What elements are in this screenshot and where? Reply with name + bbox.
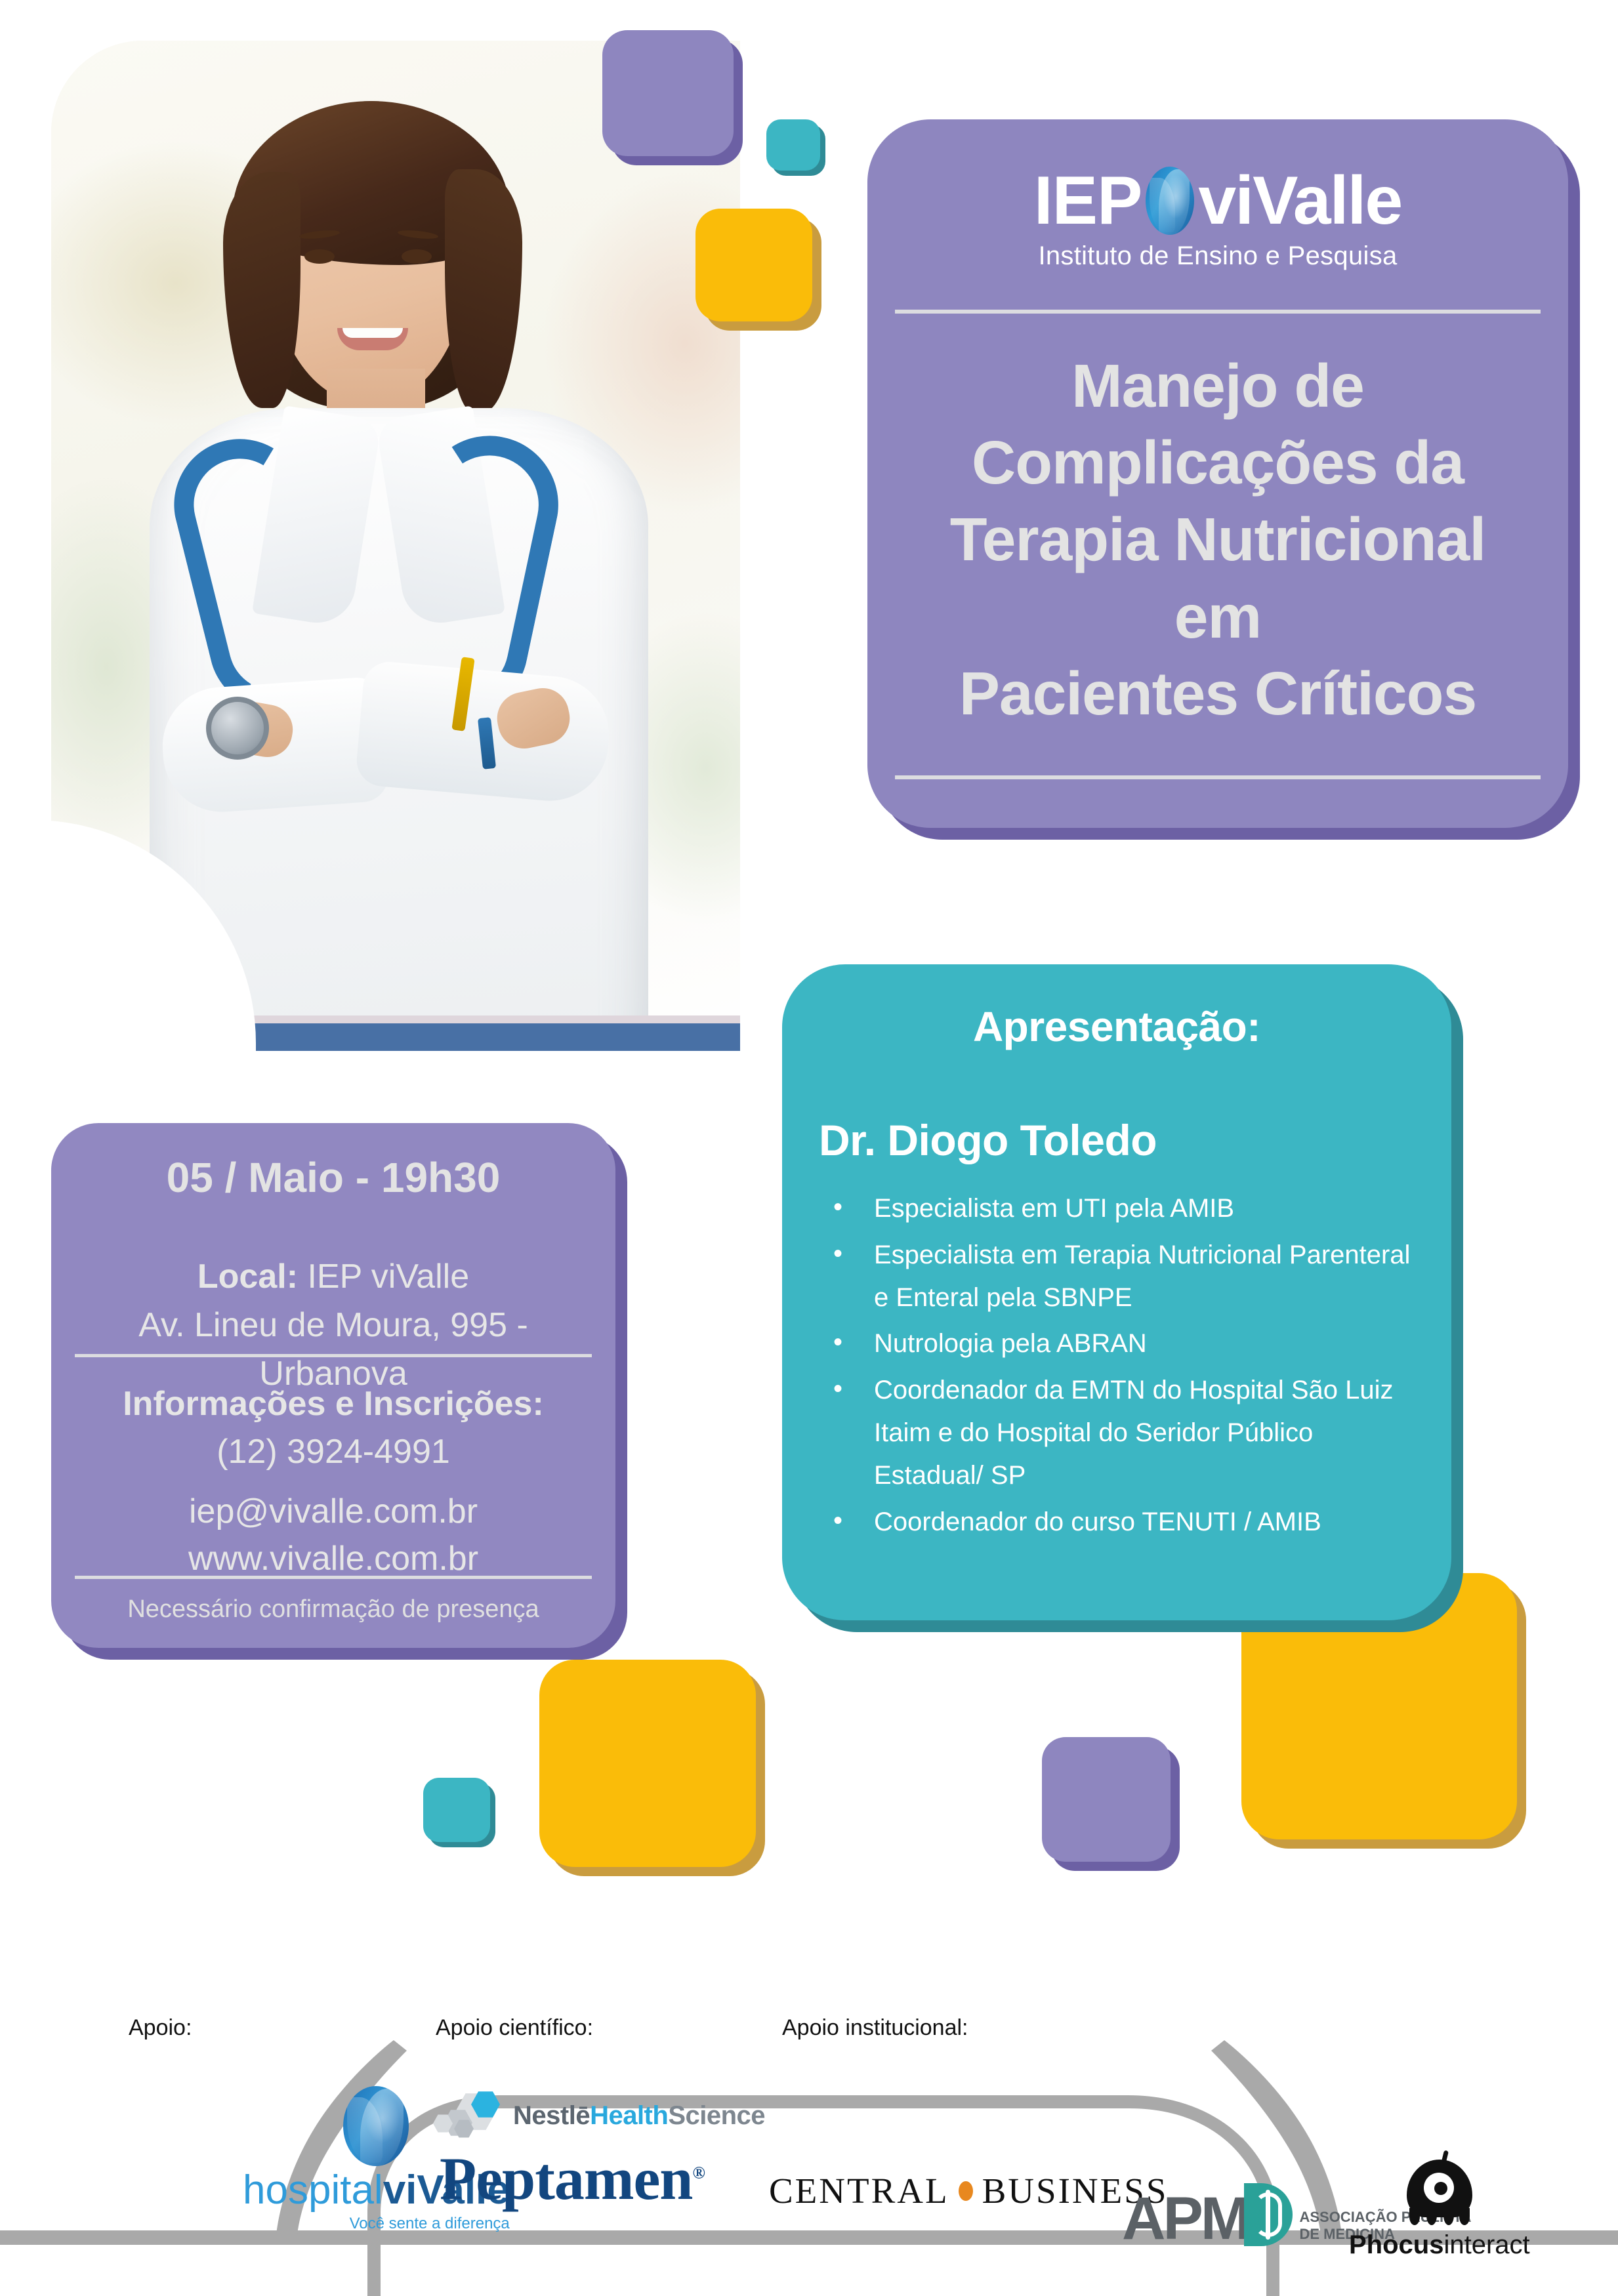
sponsor-group-institucional: Apoio institucional: (782, 2015, 968, 2041)
presenter-heading: Apresentação: (782, 1002, 1451, 1051)
cb-word-1: CENTRAL (769, 2170, 949, 2211)
credential-text: Coordenador do curso TENUTI / AMIB (874, 1507, 1321, 1536)
peptamen-registered-mark: ® (692, 2163, 704, 2182)
list-item: Especialista em UTI pela AMIB (819, 1187, 1429, 1230)
credential-text-cont: e Enteral pela SBNPE (874, 1277, 1429, 1319)
hv-word-a: hospital (243, 2167, 383, 2213)
nestle-part2: Health (590, 2101, 668, 2130)
iep-vivalle-logo: IEP viValle Instituto de Ensino e Pesqui… (867, 167, 1568, 271)
info-divider-bottom (75, 1576, 592, 1579)
title-line-3: Terapia Nutricional em (904, 501, 1531, 655)
central-business-logo: CENTRAL BUSINESS (769, 2170, 1168, 2211)
nestle-part1: Nestlē (513, 2101, 590, 2130)
credential-text: Coordenador da EMTN do Hospital São Luiz (874, 1376, 1394, 1404)
contact-email[interactable]: iep@vivalle.com.br (67, 1488, 600, 1536)
yellow-square-top (695, 209, 812, 321)
title-line-4: Pacientes Críticos (904, 655, 1531, 732)
nestle-wordmark: NestlēHealthScience (513, 2101, 765, 2131)
credential-text: Especialista em Terapia Nutricional Pare… (874, 1240, 1410, 1269)
info-divider-top (75, 1354, 592, 1357)
apm-caduceus-icon (1244, 2183, 1293, 2246)
hospital-vivalle-leaf-icon (343, 2086, 409, 2166)
phocus-interact-logo: Phocusinteract (1349, 2150, 1530, 2260)
presenter-name: Dr. Diogo Toledo (819, 1115, 1157, 1165)
central-business-wordmark: CENTRAL BUSINESS (769, 2170, 1168, 2211)
local-value: IEP viValle (307, 1258, 469, 1296)
presenter-credentials-list: Especialista em UTI pela AMIB Especialis… (819, 1187, 1429, 1547)
hospital-vivalle-tagline: Você sente a diferença (243, 2215, 510, 2233)
title-line-1: Manejo de (904, 348, 1531, 424)
poster-root: IEP viValle Instituto de Ensino e Pesqui… (0, 0, 1618, 2296)
title-line-2: Complicações da (904, 424, 1531, 501)
teal-square-top (766, 119, 820, 171)
event-contact-block: Informações e Inscrições: (12) 3924-4991… (67, 1380, 600, 1583)
logo-vivalle-text: viValle (1198, 167, 1401, 235)
purple-square-right (1042, 1737, 1171, 1862)
rsvp-note: Necessário confirmação de presença (51, 1595, 615, 1624)
list-item: Coordenador do curso TENUTI / AMIB (819, 1501, 1429, 1544)
sponsor-group-cientifico: Apoio científico: (436, 2015, 593, 2041)
phocus-word-light: interact (1443, 2230, 1529, 2259)
logo-subtitle: Instituto de Ensino e Pesquisa (867, 241, 1568, 271)
logo-iep-text: IEP (1034, 167, 1142, 235)
sponsor-label-institucional: Apoio institucional: (782, 2015, 968, 2041)
event-info-card: 05 / Maio - 19h30 Local: IEP viValle Av.… (51, 1123, 615, 1648)
list-item: Nutrologia pela ABRAN (819, 1322, 1429, 1365)
phocus-wordmark: Phocusinteract (1349, 2230, 1530, 2260)
sponsor-label-apoio: Apoio: (129, 2015, 192, 2041)
teal-square-small (423, 1778, 490, 1842)
title-card: IEP viValle Instituto de Ensino e Pesqui… (867, 119, 1568, 828)
phocus-word-bold: Phocus (1349, 2230, 1443, 2259)
nestle-health-science-logo: NestlēHealthScience Peptamen® (433, 2091, 765, 2213)
sponsor-label-cientifico: Apoio científico: (436, 2015, 593, 2041)
local-label: Local: (197, 1258, 298, 1296)
credential-text-cont: Itaim e do Hospital do Seridor Público E… (874, 1412, 1429, 1497)
footer: Apoio: hospitalviValle Você sente a dife… (0, 1988, 1618, 2296)
yellow-square-mid (539, 1660, 756, 1867)
credential-text: Nutrologia pela ABRAN (874, 1329, 1147, 1358)
purple-square-top (602, 30, 734, 156)
credential-text: Especialista em UTI pela AMIB (874, 1194, 1234, 1223)
title-divider-top (895, 310, 1541, 314)
event-location-block: Local: IEP viValle Av. Lineu de Moura, 9… (67, 1253, 600, 1398)
sponsor-group-apoio: Apoio: (129, 2015, 192, 2041)
nestle-part3: Science (668, 2101, 765, 2130)
event-date: 05 / Maio - 19h30 (51, 1153, 615, 1202)
peptamen-text: Peptamen (440, 2145, 692, 2212)
page-title: Manejo de Complicações da Terapia Nutric… (904, 348, 1531, 732)
list-item: Coordenador da EMTN do Hospital São Luiz… (819, 1369, 1429, 1496)
presenter-card: Apresentação: Dr. Diogo Toledo Especiali… (782, 964, 1451, 1620)
contact-heading: Informações e Inscrições: (67, 1380, 600, 1428)
contact-phone[interactable]: (12) 3924-4991 (67, 1428, 600, 1476)
title-divider-bottom (895, 775, 1541, 779)
peptamen-wordmark: Peptamen® (440, 2144, 765, 2213)
central-business-dot-icon (959, 2181, 973, 2201)
nestle-hexagon-icon (433, 2091, 505, 2140)
phocus-creature-icon (1401, 2150, 1478, 2228)
vivalle-leaf-icon (1146, 167, 1194, 235)
apm-acronym: APM (1122, 2192, 1248, 2246)
list-item: Especialista em Terapia Nutricional Pare… (819, 1234, 1429, 1319)
